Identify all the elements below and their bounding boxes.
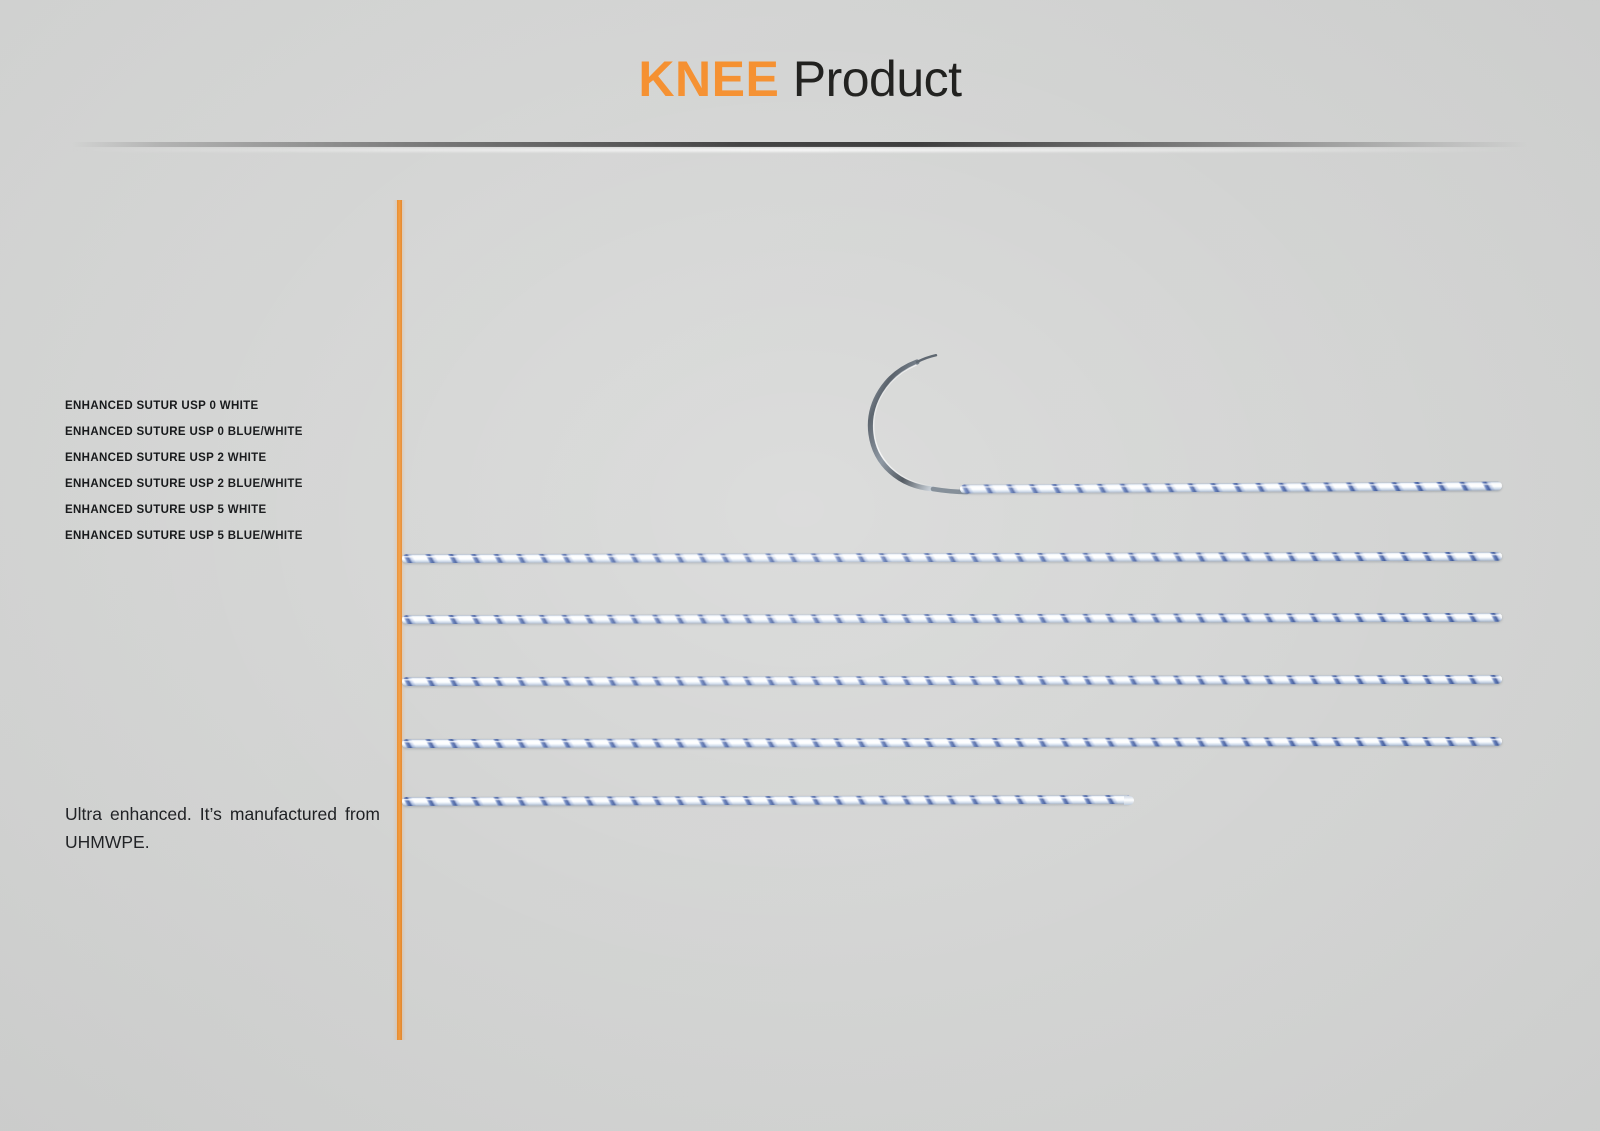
product-description: Ultra enhanced. It’s manufactured from U… [65, 800, 380, 856]
page-header: KNEE Product [0, 48, 1600, 110]
suture-strand-4 [402, 675, 1502, 686]
suture-strand-3 [402, 613, 1502, 624]
spec-item-3: ENHANCED SUTURE USP 2 BLUE/WHITE [65, 471, 385, 497]
page-title-rest: Product [779, 51, 961, 107]
suture-strand-1 [960, 481, 1502, 493]
canvas-vignette [0, 0, 1600, 1131]
page-title-highlight: KNEE [638, 51, 779, 107]
header-divider [72, 142, 1528, 147]
spec-item-0: ENHANCED SUTUR USP 0 WHITE [65, 393, 385, 419]
spec-item-2: ENHANCED SUTURE USP 2 WHITE [65, 445, 385, 471]
vertical-accent-rule [397, 200, 402, 1040]
suture-illustration [0, 0, 1600, 1131]
spec-item-5: ENHANCED SUTURE USP 5 BLUE/WHITE [65, 523, 385, 549]
spec-item-4: ENHANCED SUTURE USP 5 WHITE [65, 497, 385, 523]
spec-item-1: ENHANCED SUTURE USP 0 BLUE/WHITE [65, 419, 385, 445]
curved-needle-icon [855, 352, 1015, 497]
product-spec-list: ENHANCED SUTUR USP 0 WHITE ENHANCED SUTU… [65, 393, 385, 549]
suture-strand-2 [402, 552, 1502, 563]
suture-strand-6 [402, 795, 1131, 806]
page-title: KNEE Product [0, 48, 1600, 110]
header-divider-highlight [72, 148, 1528, 152]
suture-strand-6-tip [1124, 796, 1134, 805]
suture-strand-5 [402, 737, 1502, 748]
slide-canvas: KNEE Product ENHANCED SUTUR USP 0 WHITE … [0, 0, 1600, 1131]
